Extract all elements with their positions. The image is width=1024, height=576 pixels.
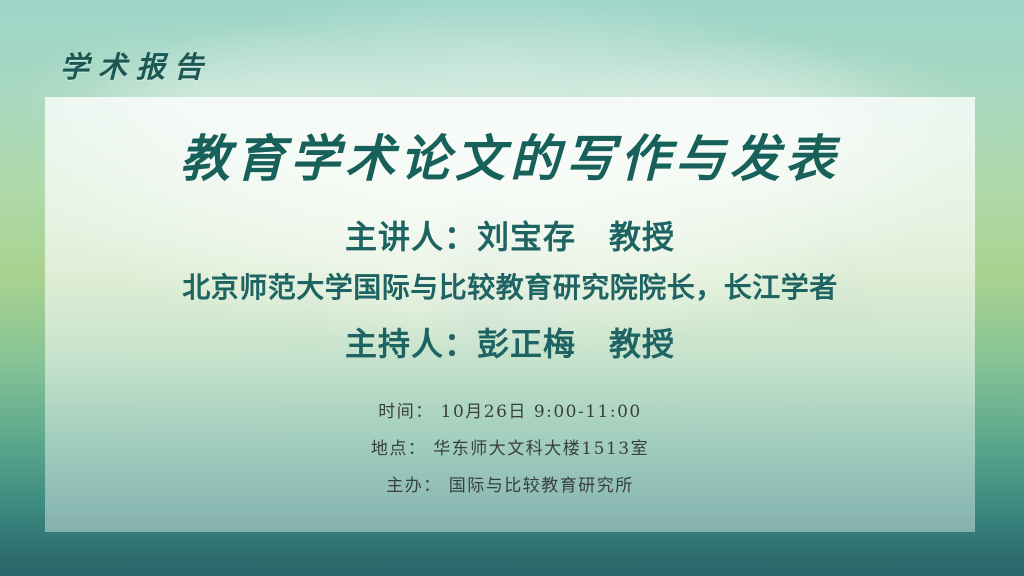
presentation-slide: 学术报告 教育学术论文的写作与发表 主讲人：刘宝存 教授 北京师范大学国际与比较… <box>0 0 1024 576</box>
content-card-inner: 教育学术论文的写作与发表 主讲人：刘宝存 教授 北京师范大学国际与比较教育研究院… <box>45 97 975 532</box>
slide-title: 教育学术论文的写作与发表 <box>45 119 975 191</box>
speaker-affiliation-line: 北京师范大学国际与比较教育研究院院长，长江学者 <box>45 266 975 306</box>
content-card: 教育学术论文的写作与发表 主讲人：刘宝存 教授 北京师范大学国际与比较教育研究院… <box>45 97 975 532</box>
meta-location: 地点： 华东师大文科大楼1513室 <box>45 434 975 459</box>
speaker-name-line: 主讲人：刘宝存 教授 <box>45 212 975 258</box>
slide-kicker-label: 学术报告 <box>60 44 212 86</box>
host-name-line: 主持人：彭正梅 教授 <box>45 319 975 365</box>
meta-organizer: 主办： 国际与比较教育研究所 <box>45 471 975 496</box>
meta-time: 时间： 10月26日 9:00-11:00 <box>45 397 975 422</box>
